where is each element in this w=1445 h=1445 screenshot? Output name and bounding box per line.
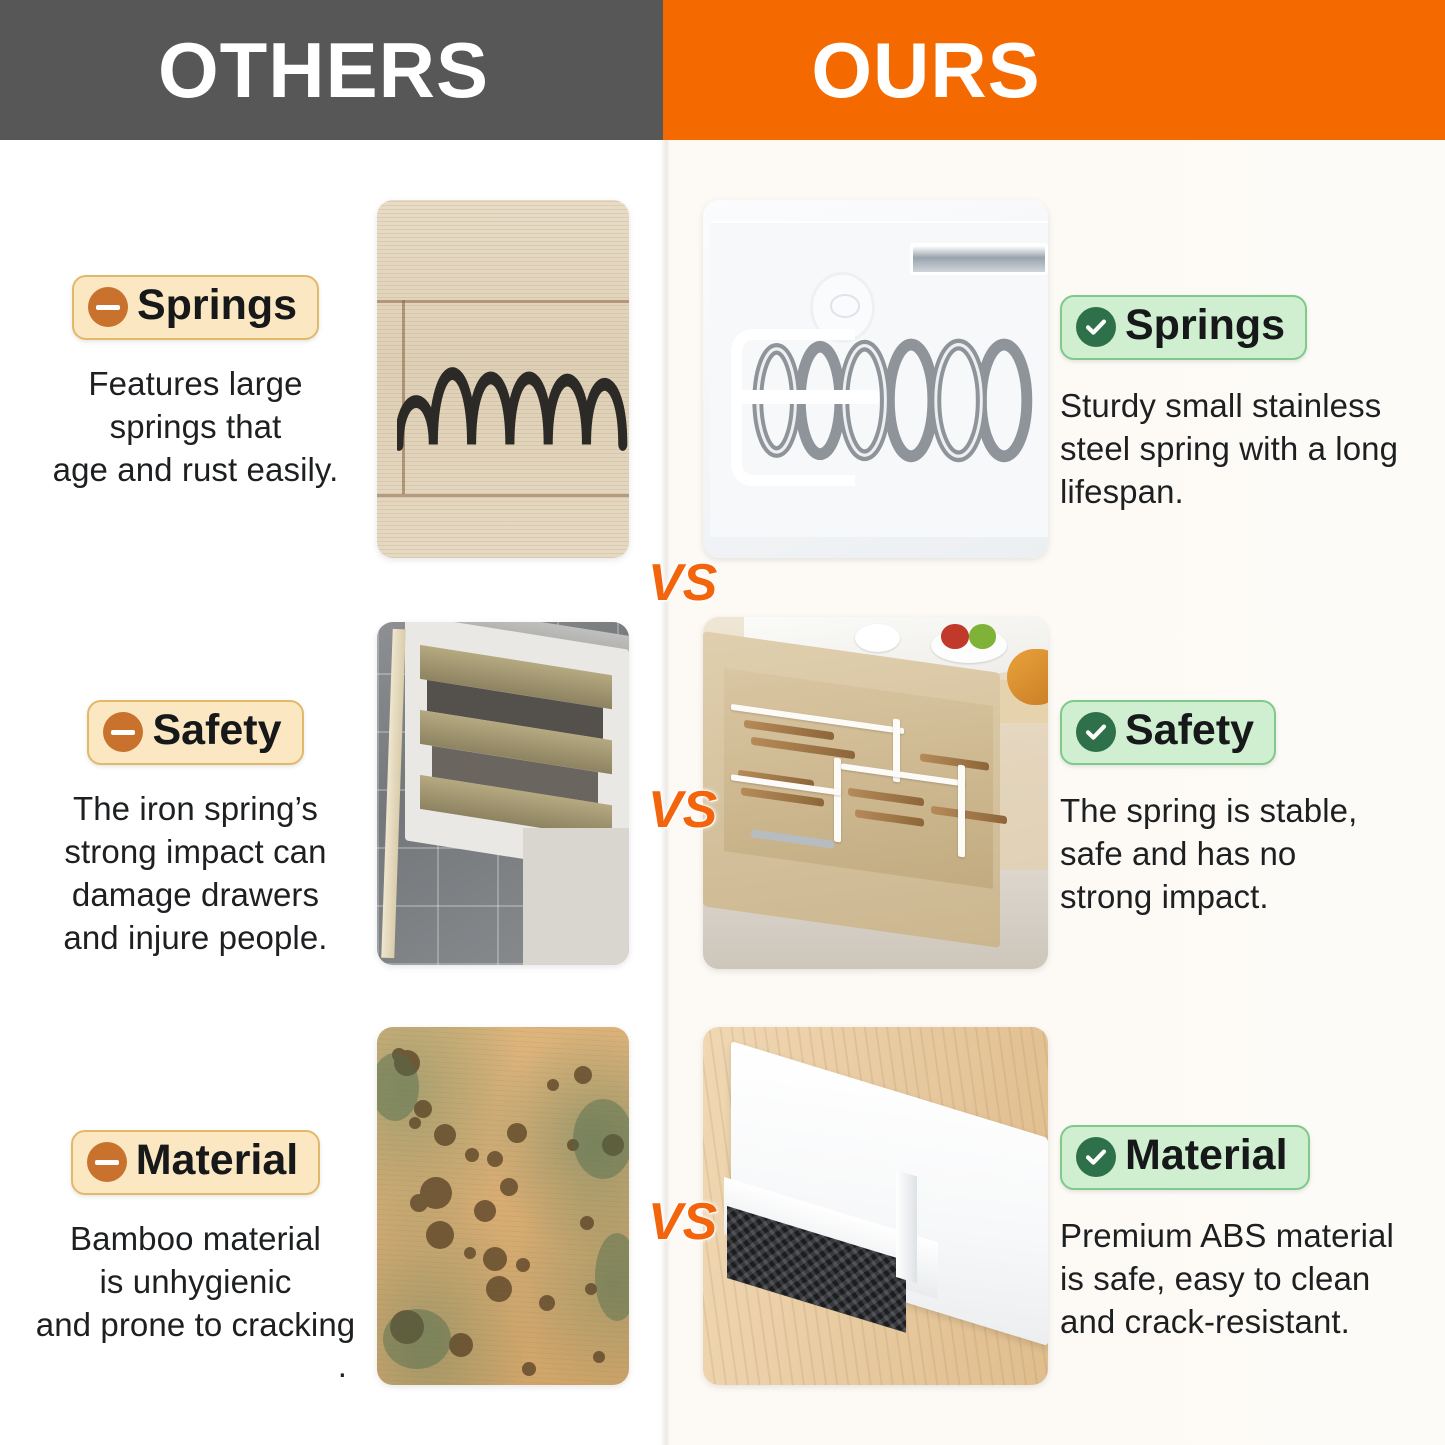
badge-label: Springs [137,283,297,328]
vs-label-springs: VS [648,553,717,613]
text-line: Bamboo material [28,1217,363,1260]
header-others-title: OTHERS [158,31,489,109]
comparison-row-material: Material Bamboo material is unhygienic a… [0,1020,1445,1395]
check-circle-icon [1076,307,1116,347]
header-ours-panel: OURS [663,0,1445,140]
text-line: lifespan. [1060,470,1415,513]
text-line: The spring is stable, [1060,789,1415,832]
text-line: Premium ABS material [1060,1214,1415,1257]
check-circle-icon [1076,1137,1116,1177]
text-line: is safe, easy to clean [1060,1257,1415,1300]
text-line: steel spring with a long [1060,427,1415,470]
minus-circle-icon [103,712,143,752]
others-safety-text-column: Safety The iron spring’s strong impact c… [28,700,363,959]
text-line: strong impact. [1060,875,1415,918]
badge-label: Safety [152,708,281,753]
text-line: safe and has no [1060,832,1415,875]
others-material-text-column: Material Bamboo material is unhygienic a… [28,1130,363,1386]
ours-material-badge: Material [1060,1125,1310,1190]
comparison-row-safety: Safety The iron spring’s strong impact c… [0,615,1445,975]
text-line: springs that [28,405,363,448]
text-line: Sturdy small stainless [1060,384,1415,427]
minus-circle-icon [87,1142,127,1182]
text-line: damage drawers [28,873,363,916]
text-line: and injure people. [28,916,363,959]
others-springs-text-column: Springs Features large springs that age … [28,275,363,491]
minus-circle-icon [88,287,128,327]
text-line-period: . [28,1346,363,1386]
badge-label: Material [136,1138,299,1183]
others-safety-badge: Safety [87,700,303,765]
ours-material-description: Premium ABS material is safe, easy to cl… [1060,1214,1415,1343]
text-line: is unhygienic [28,1260,363,1303]
badge-label: Material [1125,1133,1288,1178]
ours-springs-description: Sturdy small stainless steel spring with… [1060,384,1415,513]
text-line: strong impact can [28,830,363,873]
comparison-header: OTHERS OURS [0,0,1445,140]
others-material-description: Bamboo material is unhygienic and prone … [28,1217,363,1386]
text-line: The iron spring’s [28,787,363,830]
check-circle-icon [1076,712,1116,752]
vs-label-safety: VS [648,780,717,840]
comparison-row-springs: Springs Features large springs that age … [0,195,1445,570]
text-line: and crack-resistant. [1060,1300,1415,1343]
badge-label: Springs [1125,303,1285,348]
others-springs-badge: Springs [72,275,319,340]
others-safety-description: The iron spring’s strong impact can dama… [28,787,363,959]
header-ours-title: OURS [811,31,1040,109]
header-others-panel: OTHERS [0,0,663,140]
others-springs-description: Features large springs that age and rust… [28,362,363,491]
ours-safety-description: The spring is stable, safe and has no st… [1060,789,1415,918]
ours-springs-badge: Springs [1060,295,1307,360]
ours-springs-text-column: Springs Sturdy small stainless steel spr… [1060,295,1420,513]
others-material-badge: Material [71,1130,321,1195]
text-line: and prone to cracking [28,1303,363,1346]
ours-material-text-column: Material Premium ABS material is safe, e… [1060,1125,1420,1343]
ours-safety-text-column: Safety The spring is stable, safe and ha… [1060,700,1420,918]
ours-safety-badge: Safety [1060,700,1276,765]
text-line: Features large [28,362,363,405]
vs-label-material: VS [648,1192,717,1252]
text-line: age and rust easily. [28,448,363,491]
comparison-infographic: OTHERS OURS Springs Features large sprin… [0,0,1445,1445]
badge-label: Safety [1125,708,1254,753]
